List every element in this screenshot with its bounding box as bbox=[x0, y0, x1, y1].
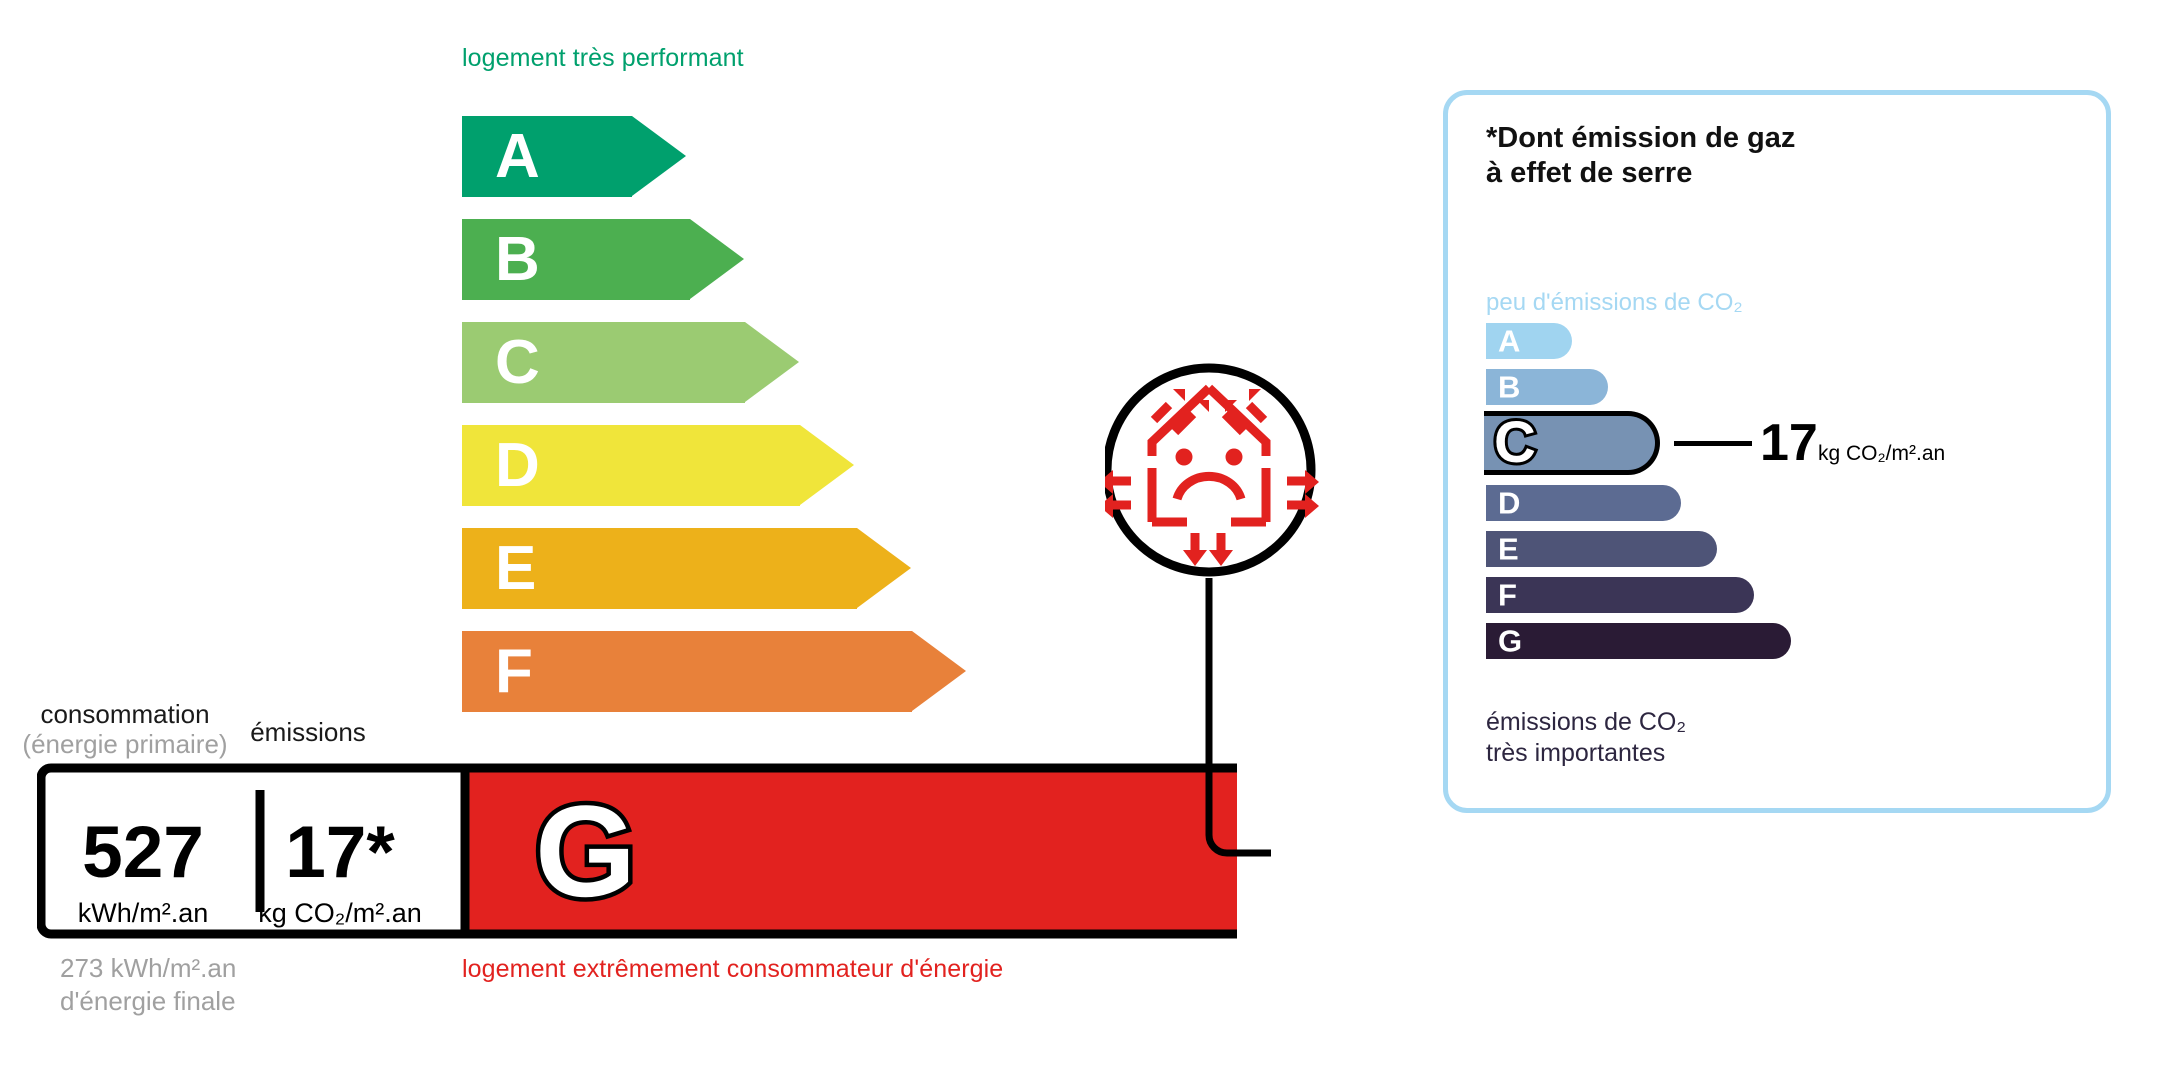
co2-title-line2: à effet de serre bbox=[1486, 156, 1795, 191]
co2-bar-e bbox=[1486, 531, 1717, 567]
callout-connector-line bbox=[1209, 578, 1271, 853]
emissions-label-text: émissions bbox=[218, 718, 398, 748]
final-energy-line2: d'énergie finale bbox=[60, 985, 236, 1018]
final-energy-line1: 273 kWh/m².an bbox=[60, 952, 236, 985]
co2-letter-d: D bbox=[1498, 488, 1520, 519]
co2-value: 17 bbox=[1760, 417, 1818, 469]
consumption-value: 527 bbox=[48, 816, 238, 889]
energy-bar-c-letter: C bbox=[495, 332, 540, 394]
energy-bar-d-tip bbox=[800, 425, 854, 505]
emissions-value: 17* bbox=[250, 816, 430, 889]
energy-bar-e-letter: E bbox=[495, 538, 536, 600]
energy-bar-b-tip bbox=[690, 219, 744, 299]
co2-bottom-caption-line2: très importantes bbox=[1486, 738, 1686, 769]
emissions-label: émissions bbox=[218, 718, 398, 748]
energy-bottom-caption: logement extrêmement consommateur d'éner… bbox=[462, 955, 1003, 984]
co2-top-caption: peu d'émissions de CO₂ bbox=[1486, 289, 1743, 317]
energy-bar-a-letter: A bbox=[495, 126, 540, 188]
energy-bar-a-body bbox=[462, 116, 632, 197]
co2-letter-e: E bbox=[1498, 534, 1519, 565]
consumption-label: consommation (énergie primaire) bbox=[20, 700, 230, 760]
co2-letter-c: C bbox=[1494, 414, 1536, 472]
energy-bar-a-tip bbox=[632, 116, 686, 196]
energy-bar-b-letter: B bbox=[495, 229, 540, 291]
co2-title-line1: *Dont émission de gaz bbox=[1486, 121, 1795, 156]
energy-bar-d-letter: D bbox=[495, 435, 540, 497]
energy-rating-letter: G bbox=[535, 786, 636, 916]
co2-value-unit: kg CO₂/m².an bbox=[1818, 443, 1945, 464]
consumption-unit: kWh/m².an bbox=[48, 900, 238, 927]
co2-letter-b: B bbox=[1498, 372, 1520, 403]
co2-bottom-caption-line1: émissions de CO₂ bbox=[1486, 707, 1686, 738]
co2-letter-g: G bbox=[1498, 626, 1522, 657]
sad-house-callout bbox=[1105, 350, 1365, 870]
co2-panel: *Dont émission de gaz à effet de serre p… bbox=[1443, 90, 2111, 813]
dpe-diagram: logement très performant A B C bbox=[0, 0, 2169, 1079]
callout-circle bbox=[1107, 368, 1311, 572]
final-energy-note: 273 kWh/m².an d'énergie finale bbox=[60, 952, 236, 1019]
co2-bar-f bbox=[1486, 577, 1754, 613]
consumption-label-line2: (énergie primaire) bbox=[20, 730, 230, 760]
energy-bar-e-tip bbox=[857, 528, 911, 608]
energy-bar-f-letter: F bbox=[495, 641, 533, 703]
consumption-label-line1: consommation bbox=[20, 700, 230, 730]
co2-panel-title: *Dont émission de gaz à effet de serre bbox=[1486, 121, 1795, 192]
co2-bar-g bbox=[1486, 623, 1791, 659]
co2-letter-f: F bbox=[1498, 580, 1517, 611]
co2-bottom-caption: émissions de CO₂ très importantes bbox=[1486, 707, 1686, 770]
energy-bar-c-tip bbox=[745, 322, 799, 402]
energy-bar-f-tip bbox=[912, 631, 966, 711]
emissions-unit: kg CO₂/m².an bbox=[245, 900, 435, 927]
energy-top-caption: logement très performant bbox=[462, 44, 744, 73]
co2-letter-a: A bbox=[1498, 326, 1520, 357]
co2-leader-line bbox=[1674, 441, 1752, 446]
